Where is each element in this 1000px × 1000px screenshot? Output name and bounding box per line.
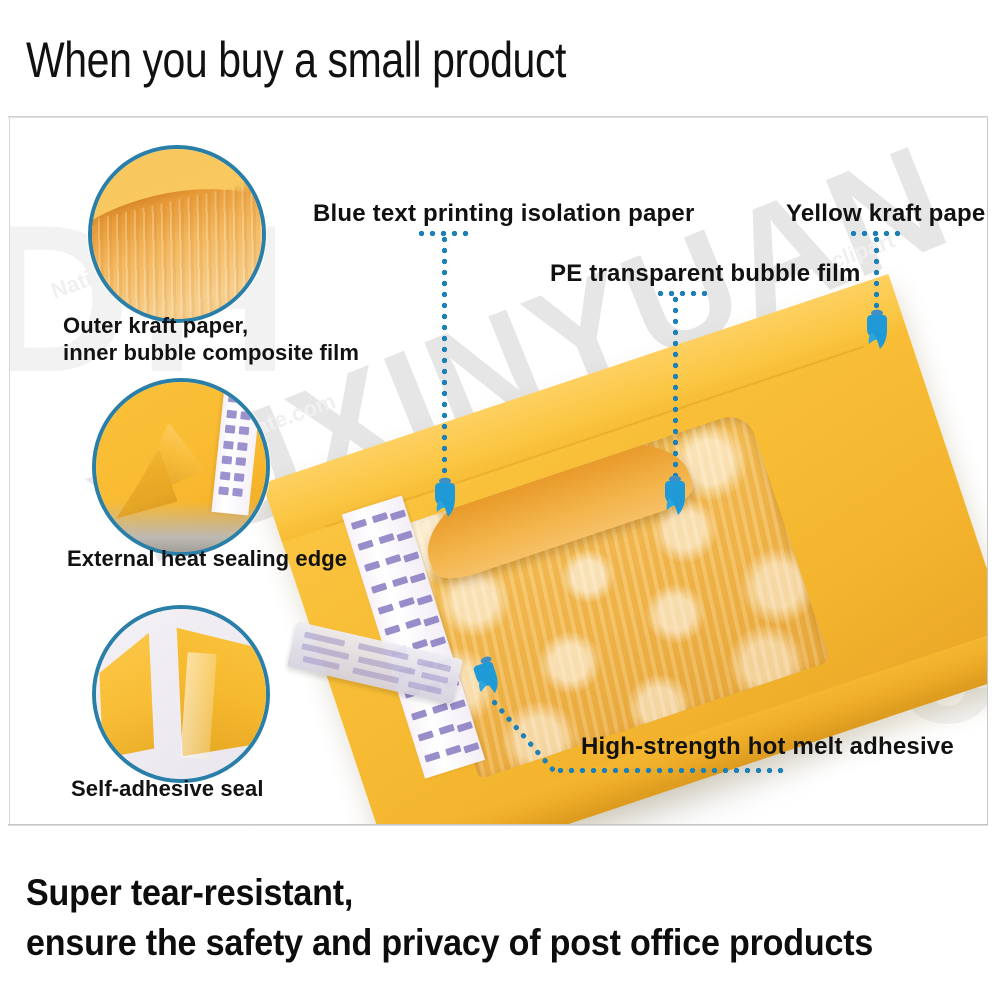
detail-label-outer-kraft: Outer kraft paper, inner bubble composit… [63,312,359,366]
detail-circle-outer-kraft [88,145,266,323]
main-illustration-panel: DH DHcreative YUXINYUAN Native www.dhgat… [9,118,988,825]
pointing-hand-icon-2 [658,474,692,520]
callout-label-blue-text-printing-isolation-paper: Blue text printing isolation paper [313,200,695,228]
pointing-hand-icon-4 [473,653,507,699]
detail-label-heat-sealing-edge: External heat sealing edge [67,545,347,572]
footer-band: Super tear-resistant, ensure the safety … [0,826,1000,1000]
callout-leader-v-3 [874,234,879,314]
callout-leader-h-4 [555,768,785,773]
callout-label-yellow-kraft-paper: Yellow kraft paper [786,200,988,228]
page-title: When you buy a small product [26,32,566,88]
header-band: When you buy a small product [0,0,1000,118]
callout-leader-h-2 [655,291,707,296]
callout-label-pe-transparent-bubble-film: PE transparent bubble film [550,260,861,288]
footer-line-2: ensure the safety and privacy of post of… [26,922,873,964]
detail-circle-self-adhesive-seal [92,605,270,783]
callout-leader-v-2 [673,294,678,480]
callout-label-high-strength-hot-melt-adhesive: High-strength hot melt adhesive [581,733,954,761]
detail-label-self-adhesive-seal: Self-adhesive seal [71,775,264,802]
pointing-hand-icon-1 [428,476,462,522]
callout-leader-v-1 [442,234,447,482]
pointing-hand-icon-3 [860,308,894,354]
detail-circle-heat-sealing-edge [92,378,270,556]
footer-line-1: Super tear-resistant, [26,872,353,914]
infographic-page: When you buy a small product DH DHcreati… [0,0,1000,1000]
